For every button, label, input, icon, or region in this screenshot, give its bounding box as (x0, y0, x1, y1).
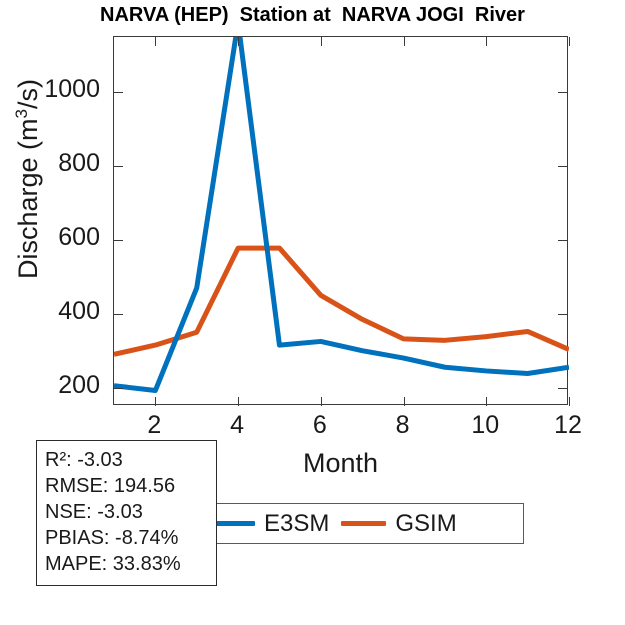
y-axis-title-suffix: /s) (13, 79, 43, 109)
x-tick-mark (404, 397, 405, 406)
y-axis-title-exponent: 3 (12, 109, 31, 118)
y-axis-title: Discharge (m3/s) (12, 0, 44, 359)
x-tick-mark (569, 37, 570, 46)
x-tick-label: 2 (114, 411, 194, 440)
y-tick-mark (558, 240, 567, 241)
y-tick-mark (558, 92, 567, 93)
x-tick-mark (238, 37, 239, 46)
y-tick-mark (558, 388, 567, 389)
legend-label: GSIM (395, 510, 456, 538)
x-tick-label: 8 (363, 411, 443, 440)
y-tick-mark (558, 166, 567, 167)
legend: E3SMGSIM (197, 503, 524, 544)
plot-area (113, 36, 568, 405)
x-tick-mark (155, 397, 156, 406)
y-tick-mark (114, 240, 123, 241)
x-tick-mark (404, 37, 405, 46)
y-tick-label: 400 (58, 297, 100, 326)
x-tick-mark (321, 397, 322, 406)
x-tick-mark (569, 397, 570, 406)
series-line-gsim (114, 248, 569, 354)
x-tick-mark (155, 37, 156, 46)
y-tick-mark (114, 388, 123, 389)
stat-line: NSE: -3.03 (45, 499, 208, 525)
series-gsim-group (114, 248, 569, 354)
y-tick-mark (114, 92, 123, 93)
x-tick-label: 10 (445, 411, 525, 440)
legend-label: E3SM (264, 510, 329, 538)
x-tick-mark (486, 37, 487, 46)
statistics-box: R²: -3.03RMSE: 194.56NSE: -3.03PBIAS: -8… (36, 440, 217, 586)
x-tick-mark (486, 397, 487, 406)
stat-line: PBIAS: -8.74% (45, 525, 208, 551)
page-title: NARVA (HEP) Station at NARVA JOGI River (0, 4, 625, 27)
stat-line: RMSE: 194.56 (45, 473, 208, 499)
stat-line: R²: -3.03 (45, 447, 208, 473)
y-tick-mark (558, 314, 567, 315)
y-tick-label: 200 (58, 371, 100, 400)
legend-color-swatch (341, 521, 386, 526)
chart-figure: NARVA (HEP) Station at NARVA JOGI River … (0, 0, 625, 625)
y-tick-label: 600 (58, 223, 100, 252)
stat-line: MAPE: 33.83% (45, 551, 208, 577)
x-tick-mark (321, 37, 322, 46)
x-tick-label: 6 (280, 411, 360, 440)
y-axis-title-prefix: Discharge (m (13, 118, 43, 279)
y-tick-label: 1000 (44, 75, 100, 104)
y-tick-mark (114, 166, 123, 167)
legend-entry[interactable]: GSIM (329, 510, 456, 538)
x-tick-label: 12 (528, 411, 608, 440)
x-tick-label: 4 (197, 411, 277, 440)
y-tick-mark (114, 314, 123, 315)
y-tick-label: 800 (58, 149, 100, 178)
x-tick-mark (238, 397, 239, 406)
series-canvas (114, 37, 569, 406)
legend-entry[interactable]: E3SM (198, 510, 329, 538)
